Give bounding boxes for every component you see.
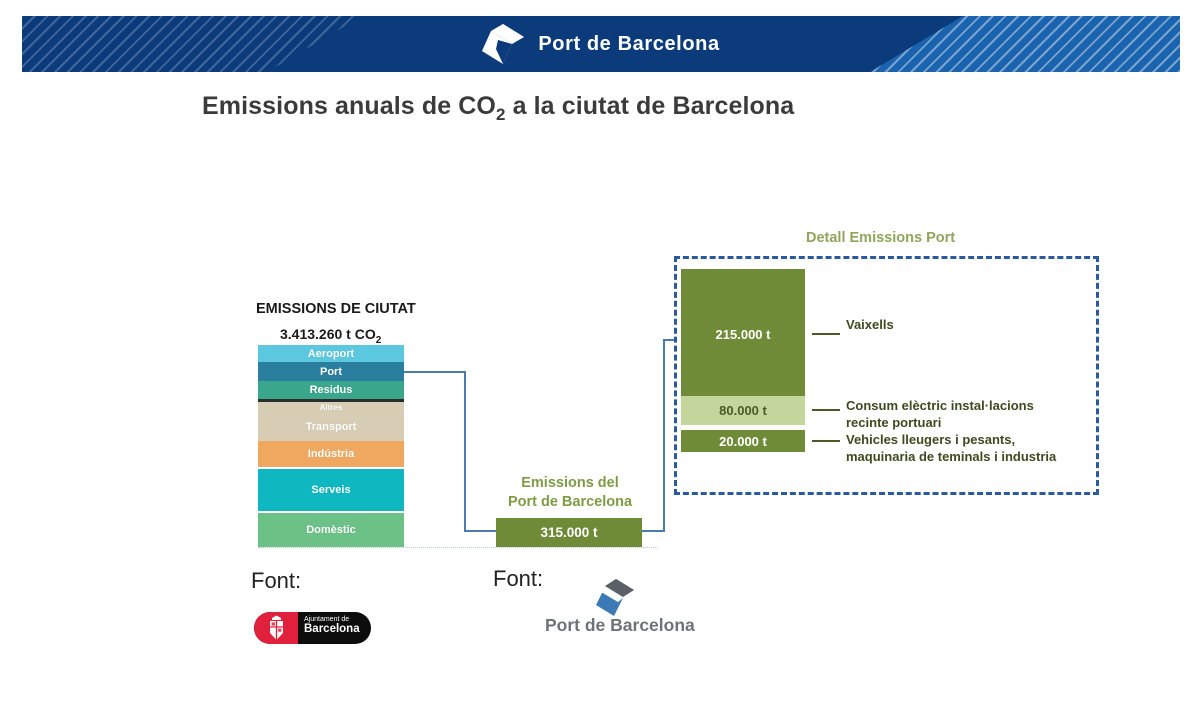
connector-port-detail-vertical	[663, 339, 665, 532]
leader-line-consum	[812, 409, 840, 411]
connector-port-detail-bottom	[641, 530, 665, 532]
city-emissions-total: 3.413.260 t CO2	[280, 326, 381, 346]
source-label-right: Font:	[493, 566, 543, 592]
detail-label-vehicles: Vehicles lleugers i pesants, maquinaria …	[846, 432, 1056, 465]
detail-label-vaixells: Vaixells	[846, 317, 894, 334]
city-bar-baseline	[258, 547, 658, 548]
detail-label-consum: Consum elèctric instal·lacions recinte p…	[846, 398, 1034, 431]
city-segment-altres: Altres	[258, 402, 404, 413]
detail-bar-consum-electric: 80.000 t	[681, 396, 805, 425]
city-emissions-stacked-bar: AeroportPortResidusAltresTransportIndúst…	[258, 345, 404, 547]
port-de-barcelona-footer-logo-icon	[594, 578, 636, 618]
page-title-main: Emissions anuals de CO	[202, 92, 496, 120]
city-total-value: 3.413.260 t CO	[280, 326, 376, 342]
port-total-bar: 315.000 t	[496, 518, 642, 547]
detail-panel-title: Detall Emissions Port	[806, 230, 955, 246]
city-segment-residus: Residus	[258, 381, 404, 399]
detail-label-vehicles-line2: maquinaria de teminals i industria	[846, 449, 1056, 466]
page-title-subscript: 2	[496, 105, 506, 124]
city-emissions-heading: EMISSIONS DE CIUTAT	[256, 301, 416, 317]
barcelona-crest-icon	[267, 615, 286, 641]
detail-bar-vaixells: 215.000 t	[681, 269, 805, 399]
port-de-barcelona-diamond-logo-icon	[482, 24, 524, 64]
city-segment-indstria: Indústria	[258, 441, 404, 467]
source-label-left: Font:	[251, 568, 301, 594]
header-brand: Port de Barcelona	[22, 16, 1180, 72]
header-brand-text: Port de Barcelona	[538, 33, 719, 56]
leader-line-vehicles	[812, 440, 840, 442]
connector-city-port-vertical	[464, 371, 466, 532]
city-segment-domstic: Domèstic	[258, 513, 404, 547]
ajuntament-logo-line2: Barcelona	[304, 623, 360, 635]
ajuntament-de-barcelona-logo: Ajuntament de Barcelona	[254, 612, 371, 644]
detail-label-vaixells-line1: Vaixells	[846, 317, 894, 334]
leader-line-vaixells	[812, 333, 840, 335]
port-total-label-line2: Port de Barcelona	[497, 493, 643, 512]
header-banner: Port de Barcelona	[22, 16, 1180, 72]
port-total-label: Emissions del Port de Barcelona	[497, 474, 643, 511]
detail-bar-vehicles: 20.000 t	[681, 430, 805, 452]
detail-label-consum-line1: Consum elèctric instal·lacions	[846, 398, 1034, 415]
ajuntament-logo-text: Ajuntament de Barcelona	[304, 616, 360, 635]
slide-canvas: Port de Barcelona Emissions anuals de CO…	[0, 0, 1200, 710]
ajuntament-logo-line1: Ajuntament de	[304, 616, 360, 623]
city-segment-serveis: Serveis	[258, 469, 404, 511]
port-total-label-line1: Emissions del	[497, 474, 643, 493]
city-segment-port: Port	[258, 362, 404, 381]
city-segment-aeroport: Aeroport	[258, 345, 404, 362]
detail-label-vehicles-line1: Vehicles lleugers i pesants,	[846, 432, 1056, 449]
page-title: Emissions anuals de CO2 a la ciutat de B…	[202, 92, 794, 125]
port-de-barcelona-footer-text: Port de Barcelona	[545, 615, 695, 636]
city-segment-transport: Transport	[258, 413, 404, 441]
detail-label-consum-line2: recinte portuari	[846, 415, 1034, 432]
city-segment-divider	[258, 399, 404, 402]
page-title-tail: a la ciutat de Barcelona	[506, 92, 795, 120]
connector-city-port-top	[404, 371, 466, 373]
connector-city-port-bottom	[464, 530, 498, 532]
